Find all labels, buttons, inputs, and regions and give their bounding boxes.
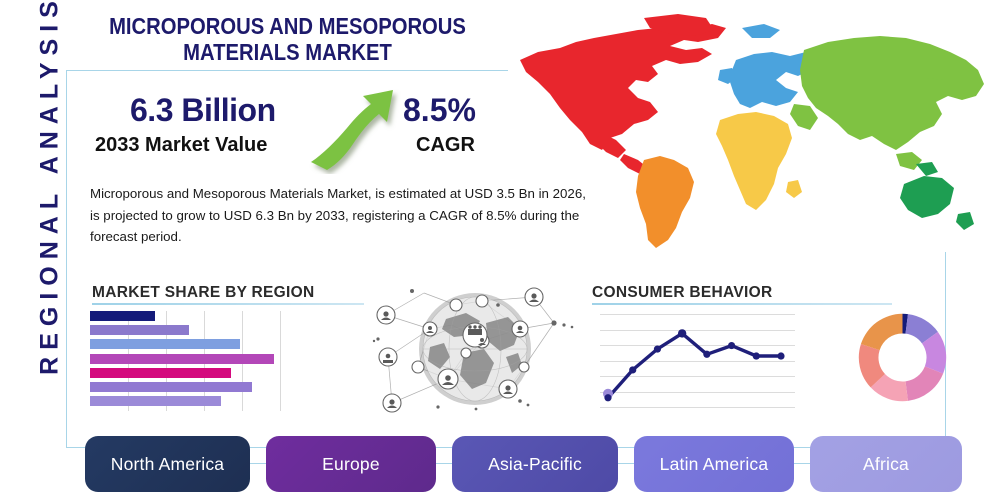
bar [90,311,155,321]
gridline [280,311,281,411]
region-button-label: Latin America [660,454,769,475]
network-globe-icon [368,283,583,418]
bar-row [90,339,240,349]
data-point [604,394,611,401]
region-connector [794,463,810,464]
data-point [654,345,661,352]
region-button-africa[interactable]: Africa [810,436,962,492]
region-button-label: Asia-Pacific [488,454,582,475]
bar [90,325,189,335]
growth-arrow-icon [307,84,402,174]
region-button-europe[interactable]: Europe [266,436,436,492]
consumer-behavior-line-chart [600,308,795,413]
bar [90,368,231,378]
bar-row [90,368,231,378]
region-button-latin-america[interactable]: Latin America [634,436,794,492]
market-split-donut-chart [855,310,950,405]
data-point [753,352,760,359]
section-heading-market-share: MARKET SHARE BY REGION [92,284,314,302]
donut-slice [861,314,903,350]
data-point [703,351,710,358]
bar-row [90,311,155,321]
region-button-north-america[interactable]: North America [85,436,250,492]
section-rule-consumer-behavior [592,303,892,305]
region-connector [436,463,452,464]
market-value-label: 2033 Market Value [95,134,267,157]
region-connector [250,463,266,464]
bar-row [90,396,221,406]
bar-row [90,325,189,335]
region-button-label: Europe [322,454,380,475]
data-point [629,366,636,373]
side-label: REGIONAL ANALYSIS [36,0,65,395]
data-point [728,342,735,349]
bar [90,339,240,349]
kpi-row: 6.3 Billion 2033 Market Value 8.5% CAGR [85,92,505,170]
region-button-asia-pacific[interactable]: Asia-Pacific [452,436,618,492]
line-series [608,333,781,397]
market-value-number: 6.3 Billion [130,92,276,129]
section-rule-market-share [92,303,364,305]
bar [90,396,221,406]
cagr-label: CAGR [416,134,475,157]
cagr-number: 8.5% [403,92,476,129]
bar-row [90,354,274,364]
page-title: MICROPOROUS AND MESOPOROUS MATERIALS MAR… [87,14,487,66]
section-heading-consumer-behavior: CONSUMER BEHAVIOR [592,284,773,302]
donut-slice [906,366,944,401]
region-button-label: Africa [863,454,909,475]
bar [90,382,252,392]
region-connector [618,463,634,464]
data-point [777,352,784,359]
market-share-bar-chart [90,311,280,411]
region-button-bar: North AmericaEuropeAsia-PacificLatin Ame… [0,436,1000,494]
bar-row [90,382,252,392]
data-point [678,329,686,337]
bar [90,354,274,364]
region-button-label: North America [111,454,224,475]
description-text: Microporous and Mesoporous Materials Mar… [90,183,590,248]
